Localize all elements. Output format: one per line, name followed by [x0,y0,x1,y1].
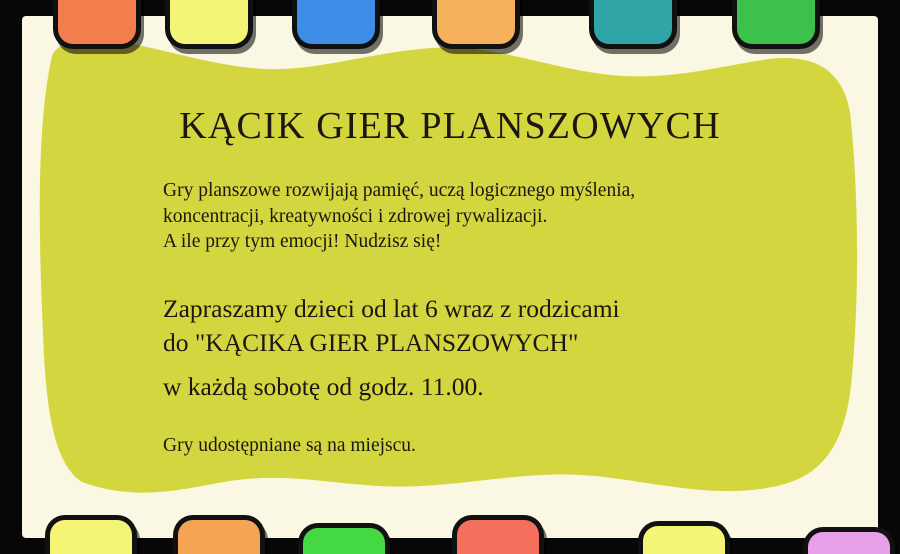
intro-line-1: Gry planszowe rozwijają pamięć, uczą log… [163,178,783,204]
tile-teal-top [594,0,672,44]
tile-green-bottom [303,528,385,554]
intro-paragraph: Gry planszowe rozwijają pamięć, uczą log… [163,178,783,255]
invitation-line-1: Zapraszamy dzieci od lat 6 wraz z rodzic… [163,292,803,326]
invitation-line-2: do "KĄCIKA GIER PLANSZOWYCH" [163,326,803,360]
tile-yellow-2-bottom [643,526,725,554]
board-games-corner-poster: KĄCIK GIER PLANSZOWYCH Gry planszowe roz… [0,0,900,554]
tile-yellow-top [170,0,248,44]
tile-red-bottom [457,520,539,554]
page-title: KĄCIK GIER PLANSZOWYCH [0,104,900,148]
tile-orange-top [58,0,136,44]
tile-yellow-bottom [50,520,132,554]
invitation-spacer [163,360,803,370]
tile-violet-bottom [808,532,890,554]
tile-green-top [737,0,815,44]
tile-blue-top [297,0,375,44]
olive-board-shape [22,16,878,538]
tile-orange-bottom [178,520,260,554]
tile-light-orange-top [437,0,515,44]
invitation-line-3: w każdą sobotę od godz. 11.00. [163,370,803,404]
intro-line-2: koncentracji, kreatywności i zdrowej ryw… [163,204,783,230]
intro-line-3: A ile przy tym emocji! Nudzisz się! [163,229,783,255]
invitation-paragraph: Zapraszamy dzieci od lat 6 wraz z rodzic… [163,292,803,404]
footnote-text: Gry udostępniane są na miejscu. [163,433,416,458]
